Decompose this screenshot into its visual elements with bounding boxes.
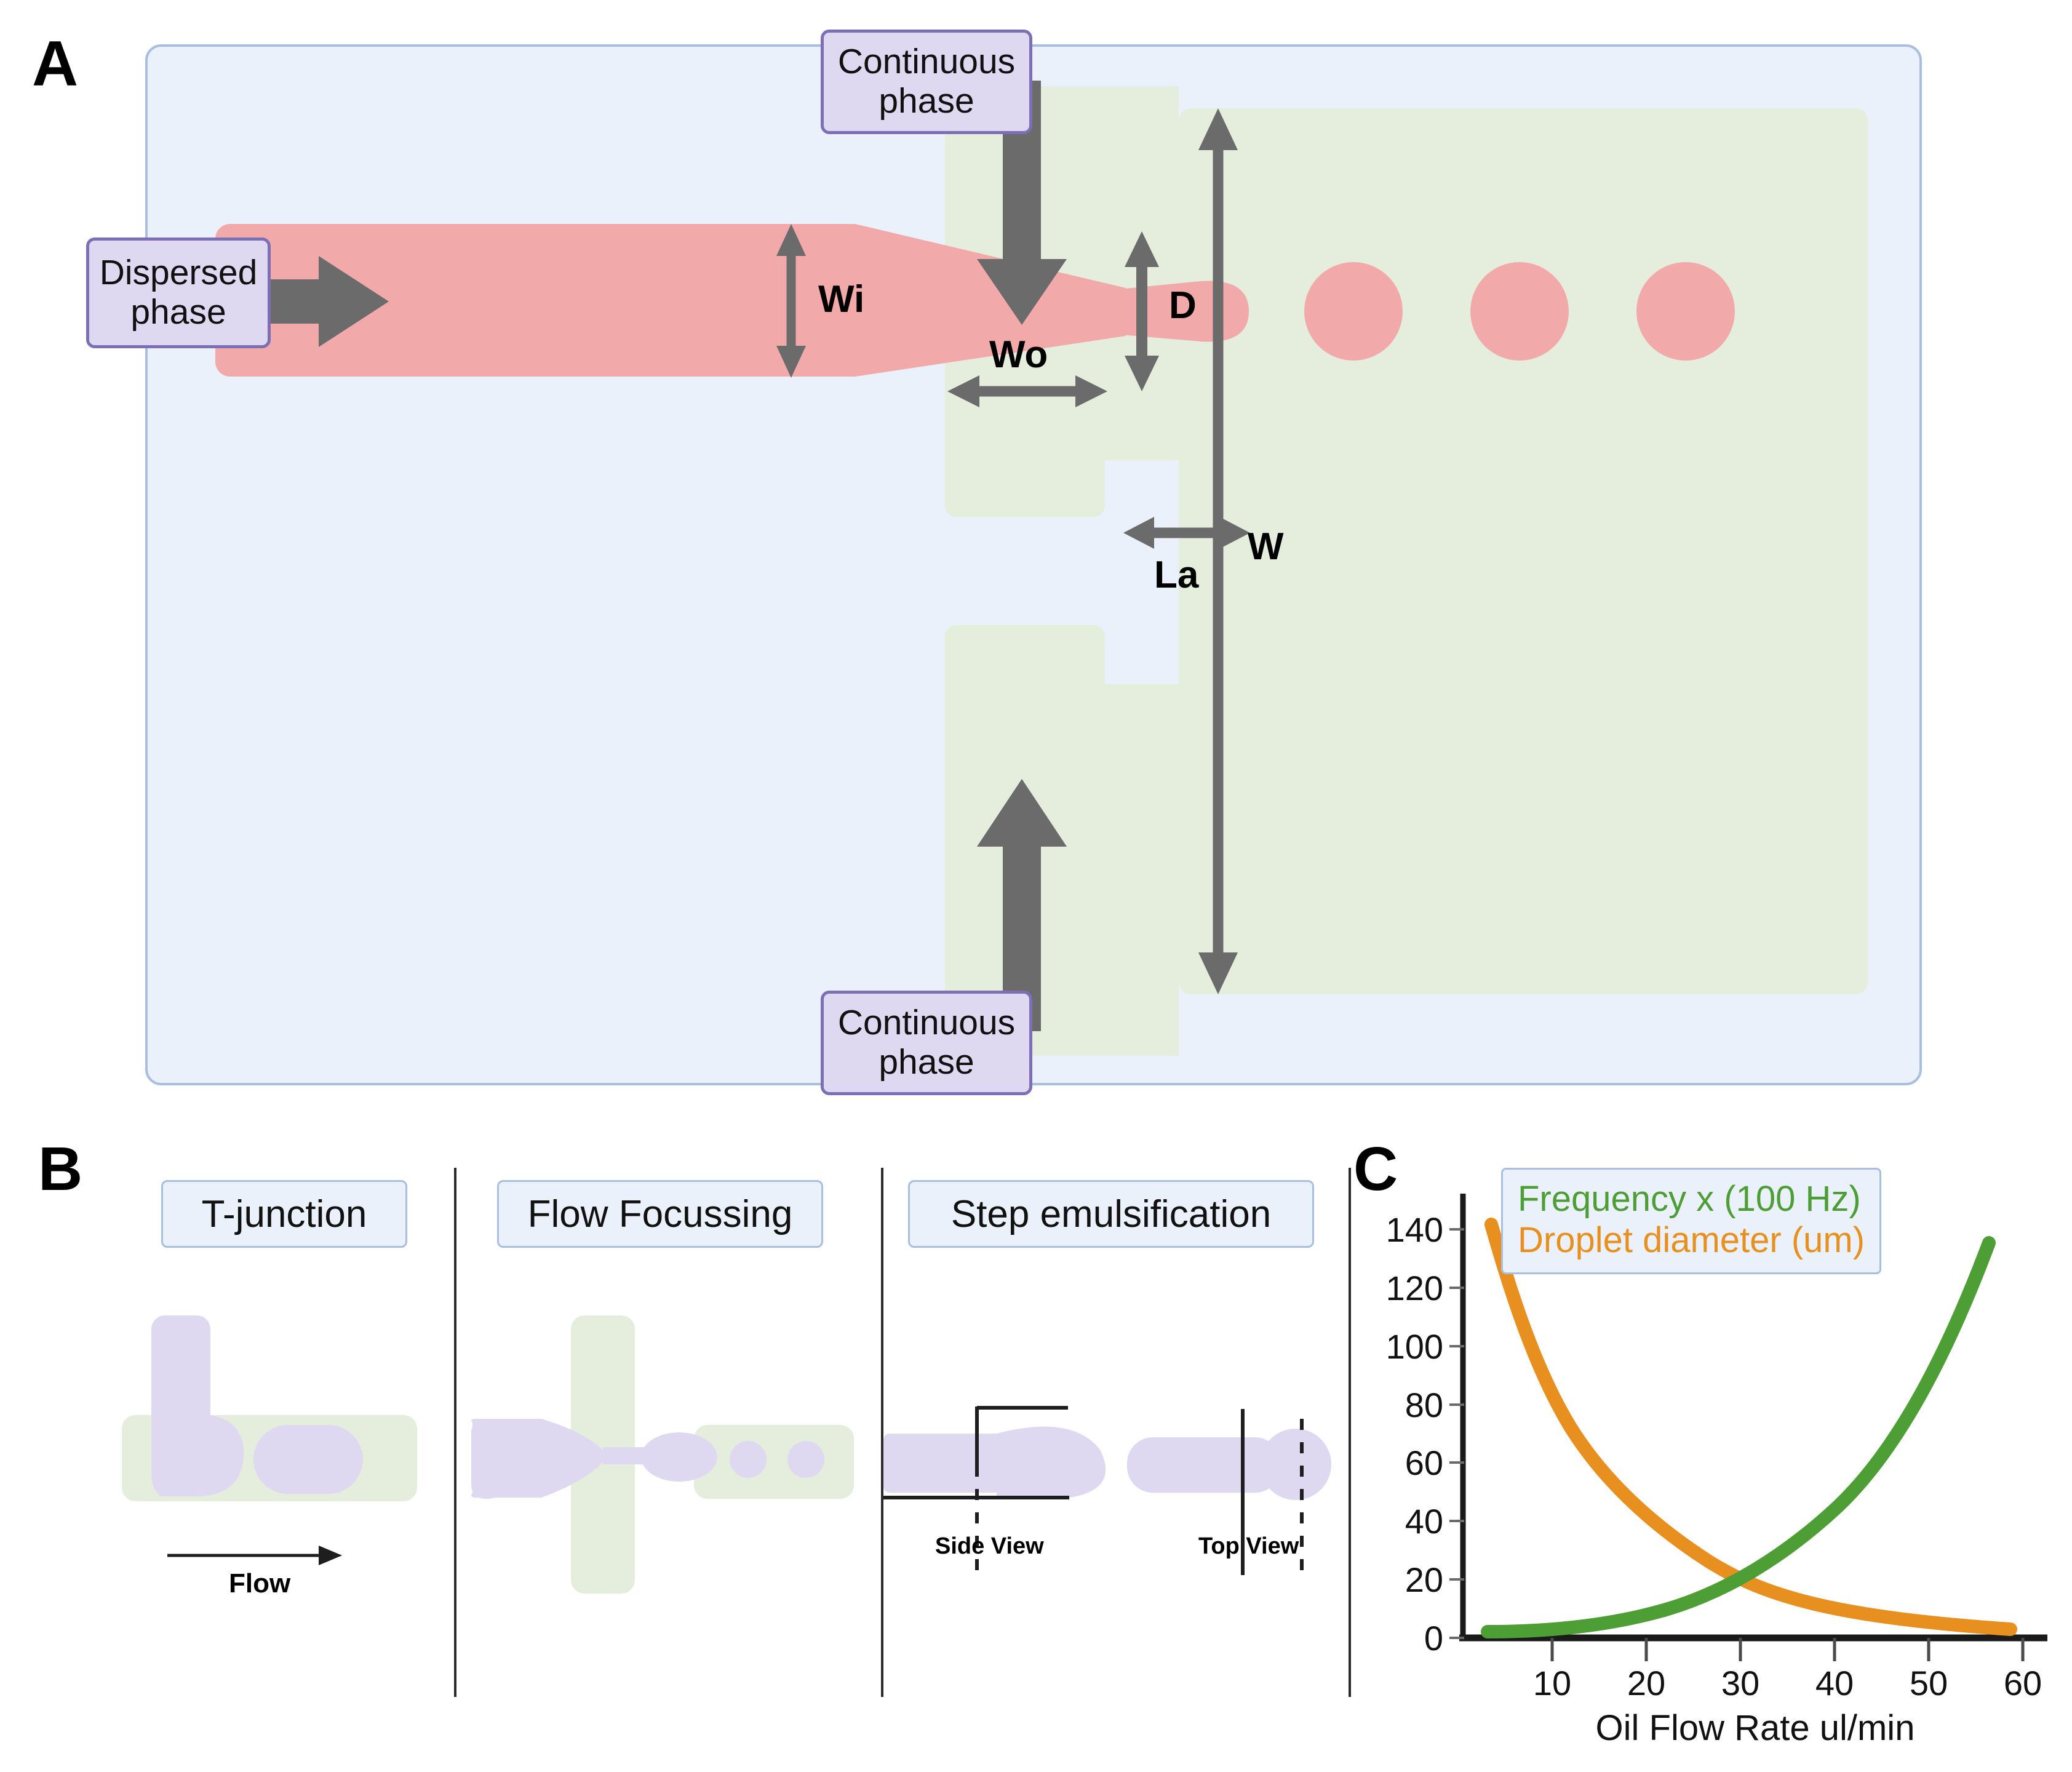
view-label-side: Side View — [935, 1535, 1044, 1558]
y-tick-80: 80 — [1382, 1388, 1443, 1423]
x-tick-50: 50 — [1892, 1666, 1966, 1701]
droplet — [1304, 262, 1403, 361]
y-tick-0: 0 — [1382, 1621, 1443, 1656]
x-tick-10: 10 — [1515, 1666, 1589, 1701]
panel-b-divider-1 — [454, 1168, 456, 1697]
panel-a-letter: A — [32, 32, 78, 96]
dimension-label-wo: Wo — [989, 336, 1048, 374]
panel-a-frame: Wo Wi D La W Continuousphase Continuousp… — [145, 44, 1922, 1085]
view-label-top: Top View — [1198, 1535, 1299, 1558]
label-continuous-phase-bottom: Continuousphase — [821, 991, 1032, 1095]
flow-focussing-outlet-channel — [694, 1425, 854, 1499]
t-junction-dispersed-inlet — [151, 1315, 210, 1457]
y-tick-60: 60 — [1382, 1446, 1443, 1480]
panel-b-divider-3 — [1349, 1168, 1351, 1697]
y-tick-40: 40 — [1382, 1504, 1443, 1539]
title-t-junction: T-junction — [202, 1192, 367, 1236]
dimension-label-la: La — [1154, 556, 1198, 594]
x-tick-20: 20 — [1609, 1666, 1683, 1701]
legend-entry-droplet-diameter: Droplet diameter (um) — [1518, 1219, 1865, 1261]
title-box-step-emulsification: Step emulsification — [908, 1180, 1314, 1248]
panel-b-letter: B — [38, 1138, 82, 1200]
x-axis-label: Oil Flow Rate ul/min — [1463, 1710, 2047, 1746]
label-dispersed-phase: Dispersedphase — [86, 237, 271, 348]
title-step-emulsification: Step emulsification — [951, 1192, 1271, 1236]
droplet — [1636, 262, 1735, 361]
droplet — [1470, 262, 1569, 361]
y-tick-20: 20 — [1382, 1563, 1443, 1597]
panel-b-divider-2 — [881, 1168, 883, 1697]
chart-legend: Frequency x (100 Hz) Droplet diameter (u… — [1501, 1168, 1881, 1274]
y-tick-100: 100 — [1382, 1330, 1443, 1364]
nozzle-wall-bottom — [1105, 684, 1179, 1056]
panel-c-chart: 0 20 40 60 80 100 120 140 10 20 30 40 50… — [1389, 1169, 2060, 1741]
flow-label: Flow — [229, 1570, 290, 1597]
label-continuous-phase-bottom-text: Continuousphase — [838, 1004, 1015, 1082]
x-tick-30: 30 — [1703, 1666, 1777, 1701]
continuous-channel-top — [945, 86, 1105, 517]
flow-focussing-continuous-vertical — [571, 1315, 635, 1594]
label-continuous-phase-top: Continuousphase — [821, 30, 1032, 134]
title-box-flow-focussing: Flow Focussing — [497, 1180, 823, 1248]
title-flow-focussing: Flow Focussing — [528, 1192, 793, 1236]
dimension-label-d: D — [1169, 287, 1197, 325]
legend-entry-frequency: Frequency x (100 Hz) — [1518, 1178, 1865, 1219]
nozzle-wall-top — [1105, 86, 1179, 460]
dimension-label-w: W — [1248, 528, 1284, 566]
dimension-label-wi: Wi — [818, 281, 864, 319]
x-tick-40: 40 — [1798, 1666, 1871, 1701]
label-dispersed-phase-text: Dispersedphase — [100, 253, 258, 332]
y-tick-140: 140 — [1382, 1213, 1443, 1247]
title-box-t-junction: T-junction — [161, 1180, 407, 1248]
x-tick-60: 60 — [1986, 1666, 2060, 1701]
y-tick-120: 120 — [1382, 1271, 1443, 1306]
label-continuous-phase-top-text: Continuousphase — [838, 42, 1015, 121]
